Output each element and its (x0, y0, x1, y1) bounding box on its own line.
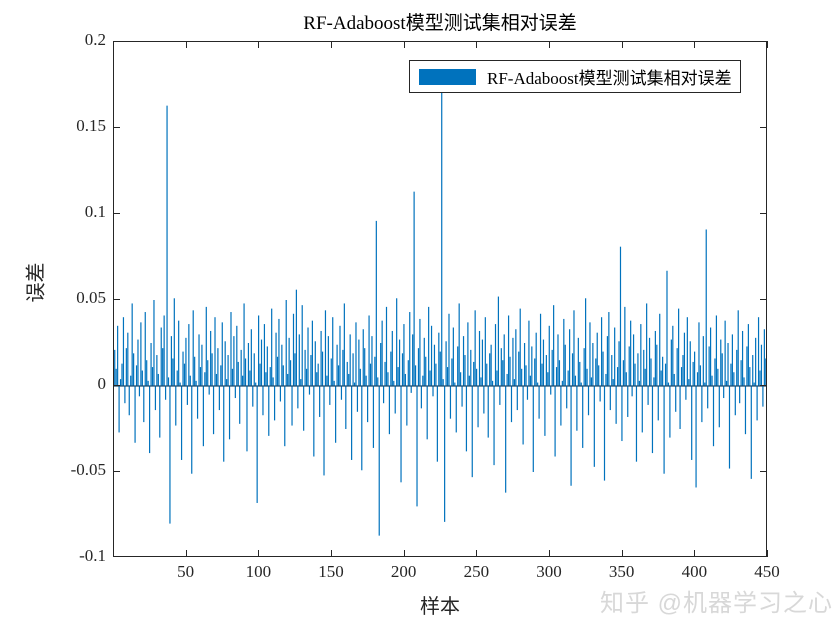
bar (264, 324, 265, 386)
bar (389, 386, 390, 434)
bar-series-svg (114, 42, 767, 557)
bar (139, 386, 140, 396)
bar (570, 386, 571, 486)
bar (431, 326, 432, 386)
bar (473, 362, 474, 386)
bar (329, 386, 330, 405)
bar (299, 334, 300, 386)
bar (544, 386, 545, 436)
bar (727, 343, 728, 386)
bar (559, 360, 560, 386)
bar (525, 365, 526, 386)
bar (200, 367, 201, 386)
y-tick-label: 0.05 (76, 288, 106, 308)
bar (530, 376, 531, 386)
bar (582, 386, 583, 448)
bar (632, 386, 633, 396)
bar (219, 386, 220, 410)
bar (130, 376, 131, 386)
bar (306, 369, 307, 386)
bar (422, 376, 423, 386)
bar (347, 362, 348, 386)
bar (418, 348, 419, 386)
bar (605, 374, 606, 386)
bar (443, 379, 444, 386)
bar (457, 346, 458, 386)
bar (706, 229, 707, 386)
bar (543, 340, 544, 386)
bar (368, 315, 369, 386)
bar (149, 386, 150, 453)
bar (483, 386, 484, 414)
bar (204, 372, 205, 386)
bar (174, 298, 175, 386)
bar (444, 386, 445, 522)
bar (709, 346, 710, 386)
chart-legend[interactable]: RF-Adaboost模型测试集相对误差 (409, 60, 741, 93)
bar (717, 369, 718, 386)
bar (332, 317, 333, 386)
bar (554, 386, 555, 457)
bar (600, 386, 601, 401)
bar (336, 345, 337, 386)
bar (501, 348, 502, 386)
x-tick-label: 450 (737, 562, 797, 582)
y-tick-mark (113, 385, 120, 386)
bar (300, 379, 301, 386)
bar (755, 338, 756, 386)
bar (185, 338, 186, 386)
bar (447, 367, 448, 386)
bar (614, 328, 615, 386)
bar (302, 305, 303, 386)
bar (213, 386, 214, 434)
bar (364, 348, 365, 386)
bar (547, 372, 548, 386)
bar (507, 374, 508, 386)
bar (694, 352, 695, 386)
legend-item-label: RF-Adaboost模型测试集相对误差 (487, 64, 732, 89)
bar (621, 386, 622, 441)
bar (453, 328, 454, 386)
bar (553, 305, 554, 386)
bar (541, 364, 542, 386)
bar (238, 362, 239, 386)
bar (290, 360, 291, 386)
bar (430, 371, 431, 386)
bar (190, 376, 191, 386)
bar (637, 353, 638, 386)
bar (691, 386, 692, 460)
y-tick-mark (113, 213, 120, 214)
bar (565, 345, 566, 386)
x-tick-mark (476, 550, 477, 557)
bar (434, 345, 435, 386)
bar (142, 371, 143, 386)
bar (655, 331, 656, 386)
bar (617, 367, 618, 386)
bar (585, 298, 586, 386)
bar (719, 386, 720, 427)
bar (681, 367, 682, 386)
bar (165, 386, 166, 400)
bar (207, 360, 208, 386)
y-tick-mark-right (760, 213, 767, 214)
bar (294, 353, 295, 386)
bar (739, 386, 740, 403)
bar (523, 386, 524, 444)
bar (620, 247, 621, 386)
bar (710, 328, 711, 386)
bar (527, 386, 528, 400)
bar (184, 364, 185, 386)
y-tick-mark (113, 127, 120, 128)
x-tick-label: 350 (592, 562, 652, 582)
bar (601, 317, 602, 386)
bar (148, 381, 149, 386)
bar (241, 350, 242, 386)
bar (316, 372, 317, 386)
y-tick-mark (113, 471, 120, 472)
bar (197, 386, 198, 419)
bar (633, 334, 634, 386)
bar (761, 345, 762, 386)
x-tick-mark-top (331, 41, 332, 48)
bar (411, 386, 412, 393)
bar (143, 386, 144, 422)
bar (286, 300, 287, 386)
bar (399, 340, 400, 386)
x-tick-label: 300 (519, 562, 579, 582)
bar (448, 314, 449, 386)
bar (514, 379, 515, 386)
bar (472, 386, 473, 477)
bar (262, 386, 263, 415)
bar (392, 331, 393, 386)
bar (732, 334, 733, 386)
bar (539, 386, 540, 419)
bar (697, 372, 698, 386)
bar (233, 336, 234, 386)
y-tick-label: 0.15 (76, 116, 106, 136)
bar (685, 386, 686, 400)
bar (687, 317, 688, 386)
x-tick-mark (622, 550, 623, 557)
bar (339, 326, 340, 386)
bar (749, 367, 750, 386)
bar (350, 334, 351, 386)
bar (441, 78, 442, 386)
bar (182, 352, 183, 386)
bar (203, 386, 204, 446)
bar (325, 310, 326, 386)
x-tick-mark-top (549, 41, 550, 48)
bar (536, 333, 537, 386)
bar (741, 360, 742, 386)
bar (743, 377, 744, 386)
bar (591, 377, 592, 386)
page-title: RF-Adaboost模型测试集相对误差 (113, 8, 767, 35)
bar (645, 369, 646, 386)
bar (406, 386, 407, 426)
bar (382, 321, 383, 386)
bar (714, 358, 715, 386)
bar (321, 331, 322, 386)
legend-color-swatch (419, 69, 476, 85)
bar (427, 386, 428, 439)
bar (533, 386, 534, 472)
bar (287, 374, 288, 386)
bar (220, 365, 221, 386)
bar (534, 358, 535, 386)
bar (371, 336, 372, 386)
bar (383, 386, 384, 403)
bar (690, 341, 691, 386)
bar (352, 353, 353, 386)
bar (489, 353, 490, 386)
bar (639, 381, 640, 386)
x-tick-label: 50 (156, 562, 216, 582)
bar (198, 334, 199, 386)
bar (283, 365, 284, 386)
bar (326, 376, 327, 386)
bar (470, 350, 471, 386)
x-tick-mark (767, 550, 768, 557)
bar (764, 329, 765, 386)
bar (671, 340, 672, 386)
x-tick-label: 250 (446, 562, 506, 582)
bar (528, 321, 529, 386)
bar (723, 386, 724, 398)
bar (152, 367, 153, 386)
bar (281, 345, 282, 386)
bar (342, 350, 343, 386)
bar (634, 364, 635, 386)
bar (746, 346, 747, 386)
bar (245, 358, 246, 386)
bar (509, 357, 510, 386)
bar (348, 374, 349, 386)
bar (572, 353, 573, 386)
bar (248, 343, 249, 386)
bar (479, 331, 480, 386)
y-tick-label: 0 (98, 374, 107, 394)
bar (363, 329, 364, 386)
bar (338, 365, 339, 386)
bar (344, 303, 345, 386)
x-tick-mark (258, 550, 259, 557)
bar (210, 331, 211, 386)
bar (242, 376, 243, 386)
bar (217, 348, 218, 386)
bar (700, 365, 701, 386)
bar (351, 386, 352, 460)
bar (520, 309, 521, 386)
x-axis-label: 样本 (113, 590, 767, 619)
bar (358, 340, 359, 386)
bar (562, 381, 563, 386)
bar (608, 312, 609, 386)
bar (212, 353, 213, 386)
bar (751, 386, 752, 479)
bar (669, 386, 670, 438)
bar (158, 374, 159, 386)
bar (735, 386, 736, 415)
bar (677, 348, 678, 386)
bar (133, 353, 134, 386)
bar (495, 324, 496, 386)
bar (424, 338, 425, 386)
bar (232, 369, 233, 386)
bar (725, 321, 726, 386)
bar (278, 319, 279, 386)
bar (549, 326, 550, 386)
bar (450, 386, 451, 419)
bar (518, 352, 519, 386)
bar (456, 386, 457, 432)
bar (578, 338, 579, 386)
bar (607, 336, 608, 386)
bar (166, 106, 167, 386)
bar (733, 372, 734, 386)
bar (214, 317, 215, 386)
x-tick-mark-top (186, 41, 187, 48)
bar (469, 376, 470, 386)
bar (267, 346, 268, 386)
bar (331, 358, 332, 386)
bar (636, 386, 637, 462)
bar (517, 386, 518, 410)
bar (623, 360, 624, 386)
bar (419, 319, 420, 386)
bar (322, 352, 323, 386)
bar (280, 386, 281, 401)
bar (164, 315, 165, 386)
bar (511, 386, 512, 422)
bar (380, 343, 381, 386)
bar (201, 345, 202, 386)
bar (270, 367, 271, 386)
bar (560, 386, 561, 426)
bar (402, 353, 403, 386)
bar (296, 290, 297, 386)
bar (618, 341, 619, 386)
bar (243, 303, 244, 386)
bar (627, 386, 628, 417)
bar (438, 333, 439, 386)
bar (145, 312, 146, 386)
bar (376, 221, 377, 386)
bar (752, 355, 753, 386)
bar (355, 322, 356, 386)
bar (765, 358, 766, 386)
bar (370, 364, 371, 386)
bar (367, 386, 368, 422)
y-tick-mark (113, 299, 120, 300)
bar (114, 350, 115, 386)
bar (586, 369, 587, 386)
bar (345, 386, 346, 429)
bar (496, 371, 497, 386)
bar (137, 340, 138, 386)
bar (730, 364, 731, 386)
x-tick-mark (549, 550, 550, 557)
y-tick-label: -0.1 (79, 546, 106, 566)
bar (486, 364, 487, 386)
bar (649, 338, 650, 386)
bar (384, 362, 385, 386)
bar (236, 326, 237, 386)
bar (361, 386, 362, 470)
bar (390, 352, 391, 386)
bar (759, 371, 760, 386)
bar (451, 358, 452, 386)
plot-area[interactable] (113, 41, 767, 557)
x-tick-mark (186, 550, 187, 557)
bar (703, 336, 704, 386)
bar (653, 377, 654, 386)
bar (377, 377, 378, 386)
bar (403, 324, 404, 386)
bar (335, 386, 336, 443)
bar (674, 374, 675, 386)
bar (400, 386, 401, 482)
bar (196, 381, 197, 386)
bar (373, 386, 374, 448)
bar (672, 326, 673, 386)
bar (226, 379, 227, 386)
bar (146, 360, 147, 386)
bar (261, 340, 262, 386)
bar (610, 386, 611, 410)
bar (624, 307, 625, 386)
bar (695, 386, 696, 487)
bar (611, 355, 612, 386)
bar (432, 386, 433, 396)
bar (504, 334, 505, 386)
bar (515, 329, 516, 386)
bar (254, 353, 255, 386)
x-tick-mark-top (476, 41, 477, 48)
x-tick-label: 200 (374, 562, 434, 582)
bar (665, 364, 666, 386)
bar (713, 386, 714, 446)
bar (246, 386, 247, 451)
bar (328, 336, 329, 386)
bar (230, 312, 231, 386)
bar (643, 350, 644, 386)
bar (416, 386, 417, 506)
bar (661, 371, 662, 386)
bar (592, 343, 593, 386)
bar (169, 386, 170, 524)
figure-canvas: RF-Adaboost模型测试集相对误差 0.20.150.10.050-0.0… (0, 0, 840, 630)
bar (155, 386, 156, 410)
bar (297, 386, 298, 408)
bar (485, 317, 486, 386)
bar (498, 297, 499, 386)
bar (698, 322, 699, 386)
x-tick-mark (694, 550, 695, 557)
bar (312, 321, 313, 386)
x-tick-mark (331, 550, 332, 557)
bar (659, 314, 660, 386)
bar (120, 379, 121, 386)
bar (229, 386, 230, 439)
bar (303, 386, 304, 431)
bar (425, 357, 426, 386)
bar (191, 386, 192, 474)
